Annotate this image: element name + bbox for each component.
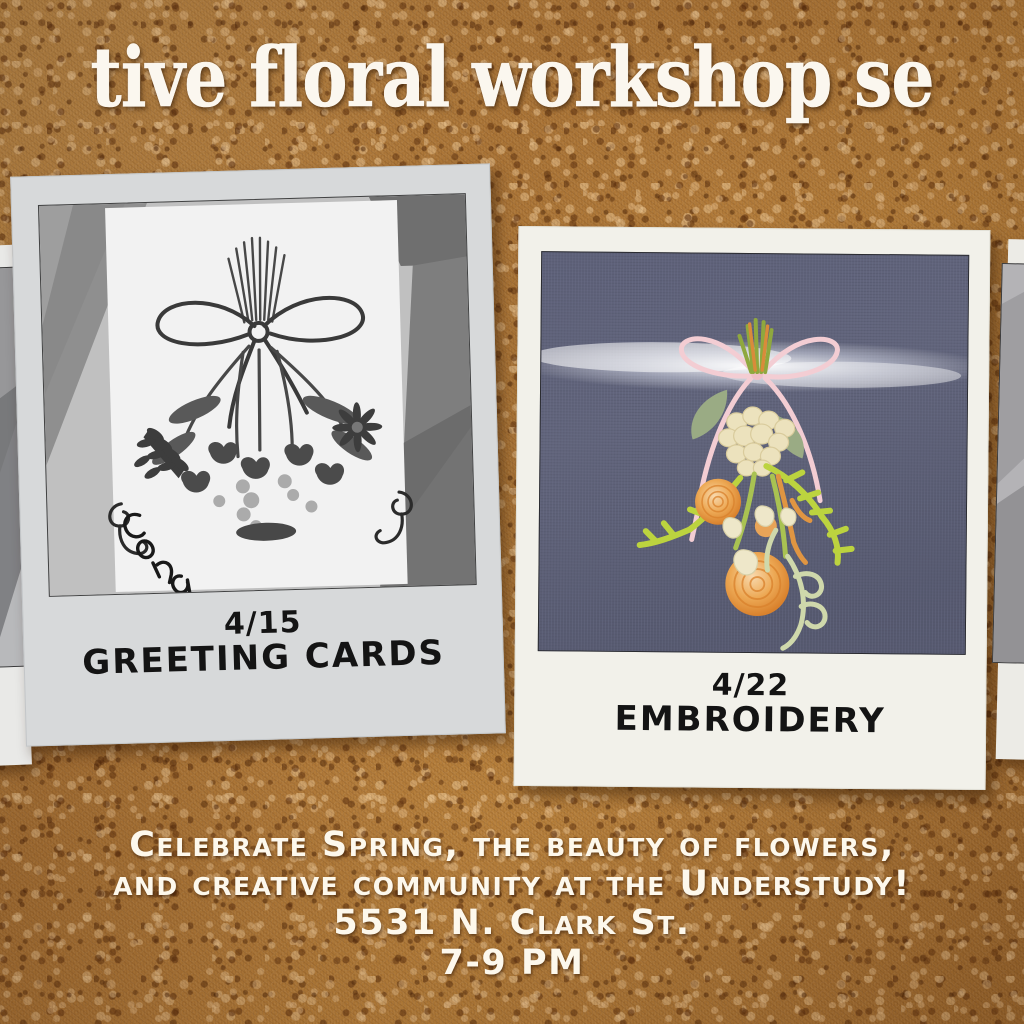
polaroid-greeting-cards[interactable]: 4/15 GREETING CARDS xyxy=(10,163,506,746)
polaroid-photo-embroidery xyxy=(538,251,969,655)
footer-line-1: Celebrate Spring, the beauty of flowers, xyxy=(0,826,1024,865)
greeting-card-photo-art xyxy=(39,194,477,597)
poster-title-text: tive floral workshop se xyxy=(90,30,933,126)
embroidery-photo-art xyxy=(539,252,969,655)
polaroid-caption-embroidery: 4/22 EMBROIDERY xyxy=(515,669,986,740)
footer-line-3: 5531 N. Clark St. xyxy=(0,904,1024,943)
footer-line-4: 7-9 PM xyxy=(0,944,1024,983)
footer-line-2: and creative community at the Understudy… xyxy=(0,865,1024,904)
polaroid-right-edge-partial xyxy=(996,239,1024,761)
poster-title: tive floral workshop se xyxy=(54,30,971,126)
footer-text-block: Celebrate Spring, the beauty of flowers,… xyxy=(0,826,1024,983)
polaroid-caption-greeting-cards: 4/15 GREETING CARDS xyxy=(23,602,503,683)
polaroid-name-embroidery: EMBROIDERY xyxy=(515,700,985,741)
polaroid-photo-greeting-cards xyxy=(38,193,477,597)
polaroid-date-embroidery: 4/22 xyxy=(515,669,985,704)
polaroid-embroidery[interactable]: 4/22 EMBROIDERY xyxy=(514,226,991,790)
